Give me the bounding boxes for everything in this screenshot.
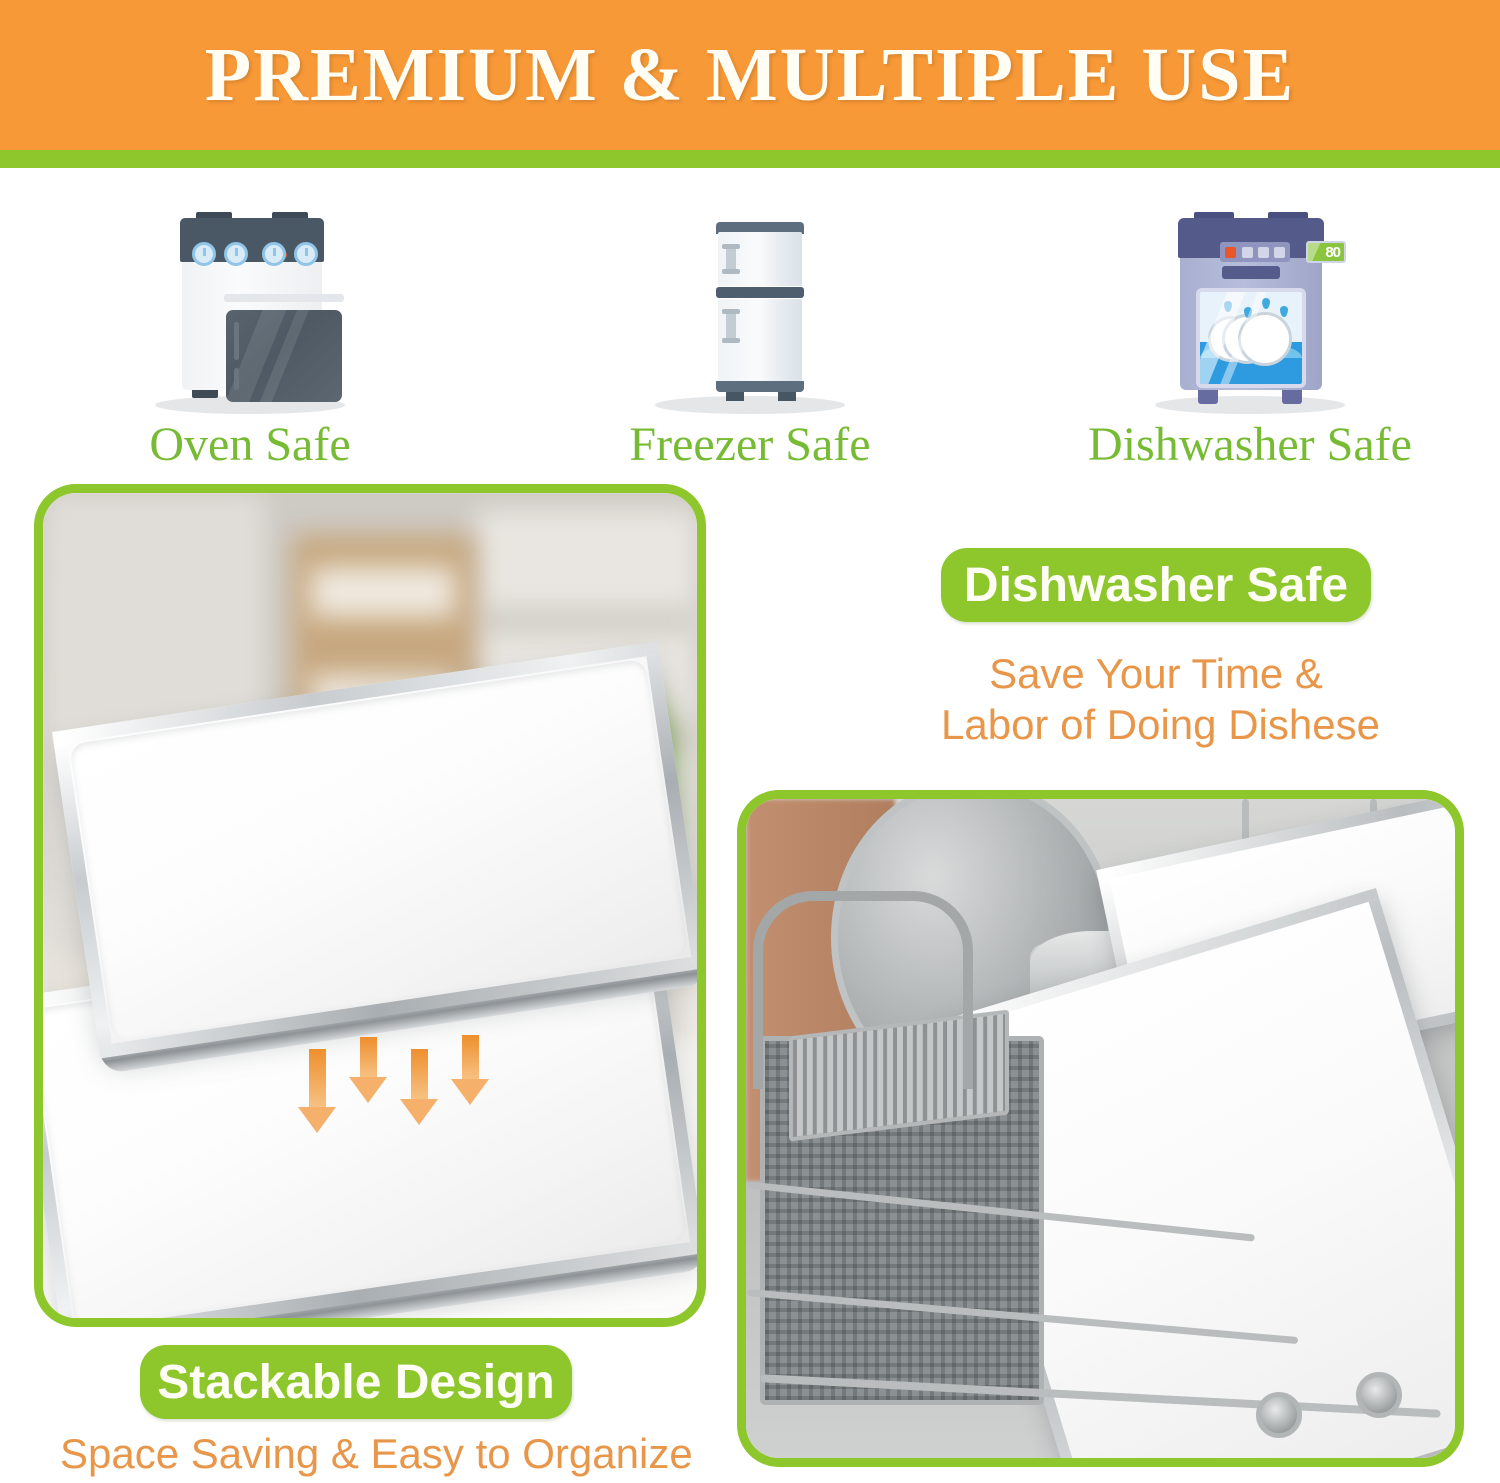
dishwasher-button-4 bbox=[1274, 247, 1285, 258]
bg-window-bar-1 bbox=[475, 609, 697, 634]
feature-oven-safe: Oven Safe bbox=[0, 180, 500, 470]
feature-dishwasher-safe: 80 Dishwasher Safe bbox=[1000, 180, 1500, 470]
dishwasher-rack-photo bbox=[737, 790, 1464, 1467]
oven-door-window bbox=[226, 310, 342, 402]
oven-knob-2 bbox=[224, 242, 248, 266]
feature-icon-row: Oven Safe Freezer Safe bbox=[0, 180, 1500, 470]
down-arrow-icon-2 bbox=[349, 1035, 387, 1103]
dishwasher-interior-background bbox=[746, 799, 1455, 1458]
feature-freezer-safe: Freezer Safe bbox=[500, 180, 1000, 470]
oven-knob-4 bbox=[294, 242, 318, 266]
bg-shelf-board-1 bbox=[311, 567, 455, 617]
dishwasher-icon: 80 bbox=[1150, 204, 1350, 414]
dishwasher-power-button bbox=[1225, 247, 1236, 258]
oven-knob-1 bbox=[192, 242, 216, 266]
stacked-baking-sheets-photo bbox=[34, 484, 706, 1327]
feature-label-freezer: Freezer Safe bbox=[629, 420, 870, 470]
dishwasher-control-panel: 80 bbox=[1178, 218, 1324, 258]
infographic-page: PREMIUM & MULTIPLE USE bbox=[0, 0, 1500, 1483]
feature-label-dishwasher: Dishwasher Safe bbox=[1088, 420, 1412, 470]
dishwasher-window bbox=[1196, 288, 1306, 388]
cutlery-basket-handle bbox=[753, 891, 973, 1089]
caption-dishwasher-safe: Save Your Time & Labor of Doing Dishese bbox=[941, 648, 1371, 750]
oven-rail-bottom bbox=[234, 368, 239, 390]
header-accent-stripe bbox=[0, 150, 1500, 168]
oven-icon bbox=[150, 204, 350, 414]
rack-wheel-2 bbox=[1356, 1372, 1402, 1418]
dishwasher-foot-left bbox=[1198, 390, 1218, 404]
caption-dishwasher-line-2: Labor of Doing Dishese bbox=[941, 699, 1371, 750]
dishwasher-shadow bbox=[1155, 396, 1345, 414]
oven-vent-strip bbox=[224, 294, 344, 302]
dishwasher-droplet-4 bbox=[1280, 306, 1288, 317]
caption-dishwasher-line-1: Save Your Time & bbox=[941, 648, 1371, 699]
fridge-base-bar bbox=[716, 381, 804, 392]
dishwasher-button-3 bbox=[1258, 247, 1269, 258]
fridge-freezer-door bbox=[718, 232, 802, 286]
fridge-shadow bbox=[655, 396, 845, 414]
refrigerator-icon bbox=[650, 204, 850, 414]
down-arrow-icon-1 bbox=[298, 1035, 336, 1133]
dishwasher-display-value: 80 bbox=[1325, 244, 1340, 261]
fridge-gloss-lower bbox=[756, 299, 802, 381]
dishwasher-button-2 bbox=[1242, 247, 1253, 258]
dishwasher-door-handle bbox=[1222, 266, 1280, 279]
oven-control-panel bbox=[180, 218, 324, 262]
fridge-foot-left bbox=[726, 392, 744, 401]
badge-dishwasher-safe: Dishwasher Safe bbox=[941, 548, 1371, 622]
oven-rail-top bbox=[234, 322, 239, 360]
dishwasher-foot-right bbox=[1282, 390, 1302, 404]
page-title: PREMIUM & MULTIPLE USE bbox=[0, 0, 1500, 150]
down-arrow-icon-3 bbox=[400, 1035, 438, 1125]
fridge-handle-lower bbox=[726, 309, 736, 343]
badge-stackable-design: Stackable Design bbox=[140, 1345, 572, 1419]
caption-stackable-design: Space Saving & Easy to Organize bbox=[60, 1428, 660, 1479]
stacking-arrows bbox=[298, 1035, 503, 1155]
down-arrow-icon-4 bbox=[451, 1035, 489, 1105]
fridge-divider-bar bbox=[716, 287, 804, 298]
fridge-foot-right bbox=[778, 392, 796, 401]
fridge-fresh-door bbox=[718, 299, 802, 381]
feature-label-oven: Oven Safe bbox=[149, 420, 350, 470]
dishwasher-display: 80 bbox=[1306, 241, 1346, 263]
fridge-handle-upper bbox=[726, 244, 736, 274]
dishwasher-button-group bbox=[1220, 242, 1290, 262]
oven-knob-3 bbox=[262, 242, 286, 266]
fridge-gloss-upper bbox=[756, 232, 802, 286]
